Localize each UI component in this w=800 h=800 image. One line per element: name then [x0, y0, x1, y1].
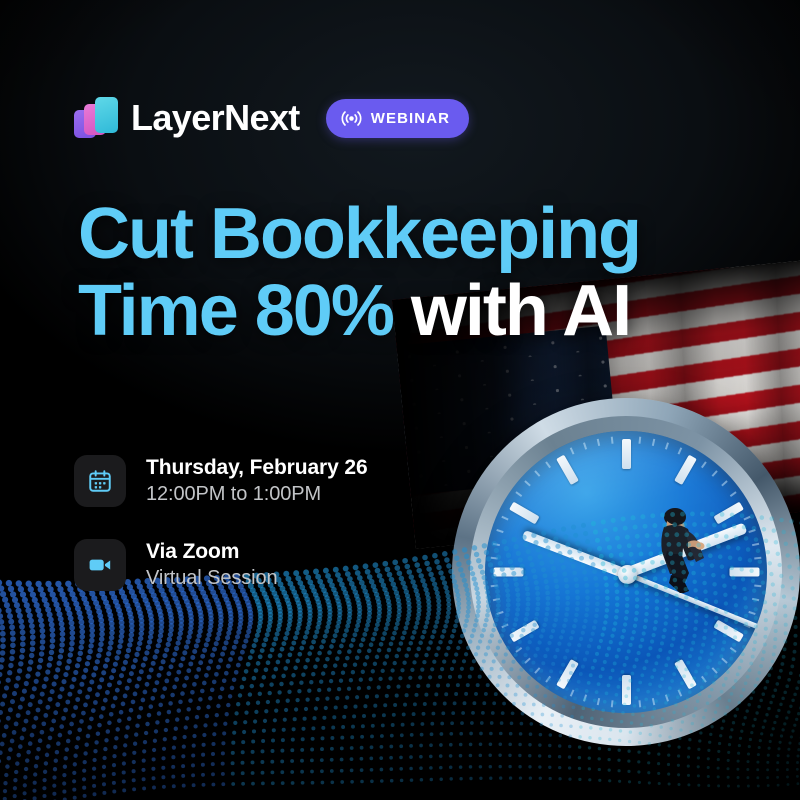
header-bar: LayerNext WEBINAR [74, 96, 469, 140]
calendar-icon [87, 468, 113, 494]
video-camera-icon-tile [74, 539, 126, 591]
detail-location-title: Via Zoom [146, 540, 278, 564]
broadcast-signal-icon [341, 108, 362, 129]
calendar-icon-tile [74, 455, 126, 507]
page-title: Cut Bookkeeping Time 80% with AI [78, 196, 758, 350]
brand-wordmark: LayerNext [131, 100, 300, 136]
headline-plain-text: with AI [411, 271, 630, 351]
webinar-badge-label: WEBINAR [371, 110, 450, 127]
logo-card-cyan [95, 97, 118, 133]
detail-text-location: Via Zoom Virtual Session [146, 540, 278, 590]
headline-line-1: Cut Bookkeeping [78, 196, 758, 273]
headline-accent-text: Time 80% [78, 271, 411, 351]
detail-text-date: Thursday, February 26 12:00PM to 1:00PM [146, 456, 368, 506]
detail-location-subtitle: Virtual Session [146, 567, 278, 590]
promo-canvas: LayerNext WEBINAR Cut Bookkeeping Time 8… [0, 0, 800, 800]
event-details: Thursday, February 26 12:00PM to 1:00PM … [74, 455, 368, 623]
detail-date-subtitle: 12:00PM to 1:00PM [146, 483, 368, 506]
detail-row-location: Via Zoom Virtual Session [74, 539, 368, 591]
detail-date-title: Thursday, February 26 [146, 456, 368, 480]
video-camera-icon [87, 552, 113, 578]
detail-row-date: Thursday, February 26 12:00PM to 1:00PM [74, 455, 368, 507]
webinar-badge[interactable]: WEBINAR [326, 99, 469, 138]
layered-cards-icon [74, 96, 120, 140]
headline-line-2: Time 80% with AI [78, 273, 758, 350]
brand-logo[interactable]: LayerNext [74, 96, 300, 140]
